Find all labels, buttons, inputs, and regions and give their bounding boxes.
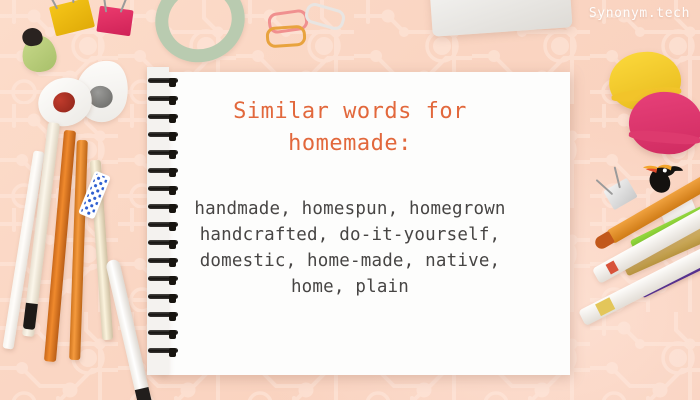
spiral-ring: [148, 330, 178, 339]
paper-clip-orange: [265, 25, 306, 49]
binder-clip-pink: [96, 6, 133, 36]
synonym-line: handmade, homespun, homegrown: [0, 196, 700, 222]
spiral-ring: [148, 312, 178, 321]
synonym-line: domestic, home-made, native,: [0, 248, 700, 274]
spiral-ring: [148, 168, 178, 177]
spiral-ring: [148, 186, 178, 195]
page-title: Similar words for homemade:: [0, 96, 700, 160]
desk-scene: Similar words for homemade: handmade, ho…: [0, 0, 700, 400]
title-line-1: Similar words for: [233, 99, 467, 124]
synonym-line: home, plain: [0, 274, 700, 300]
synonyms-list: handmade, homespun, homegrown handcrafte…: [0, 196, 700, 300]
spiral-ring: [148, 78, 178, 87]
title-line-2: homemade:: [0, 128, 700, 160]
watermark: Synonym.tech: [589, 6, 690, 21]
camera-lens-icon: [472, 0, 538, 2]
synonym-line: handcrafted, do-it-yourself,: [0, 222, 700, 248]
spiral-ring: [148, 348, 178, 357]
